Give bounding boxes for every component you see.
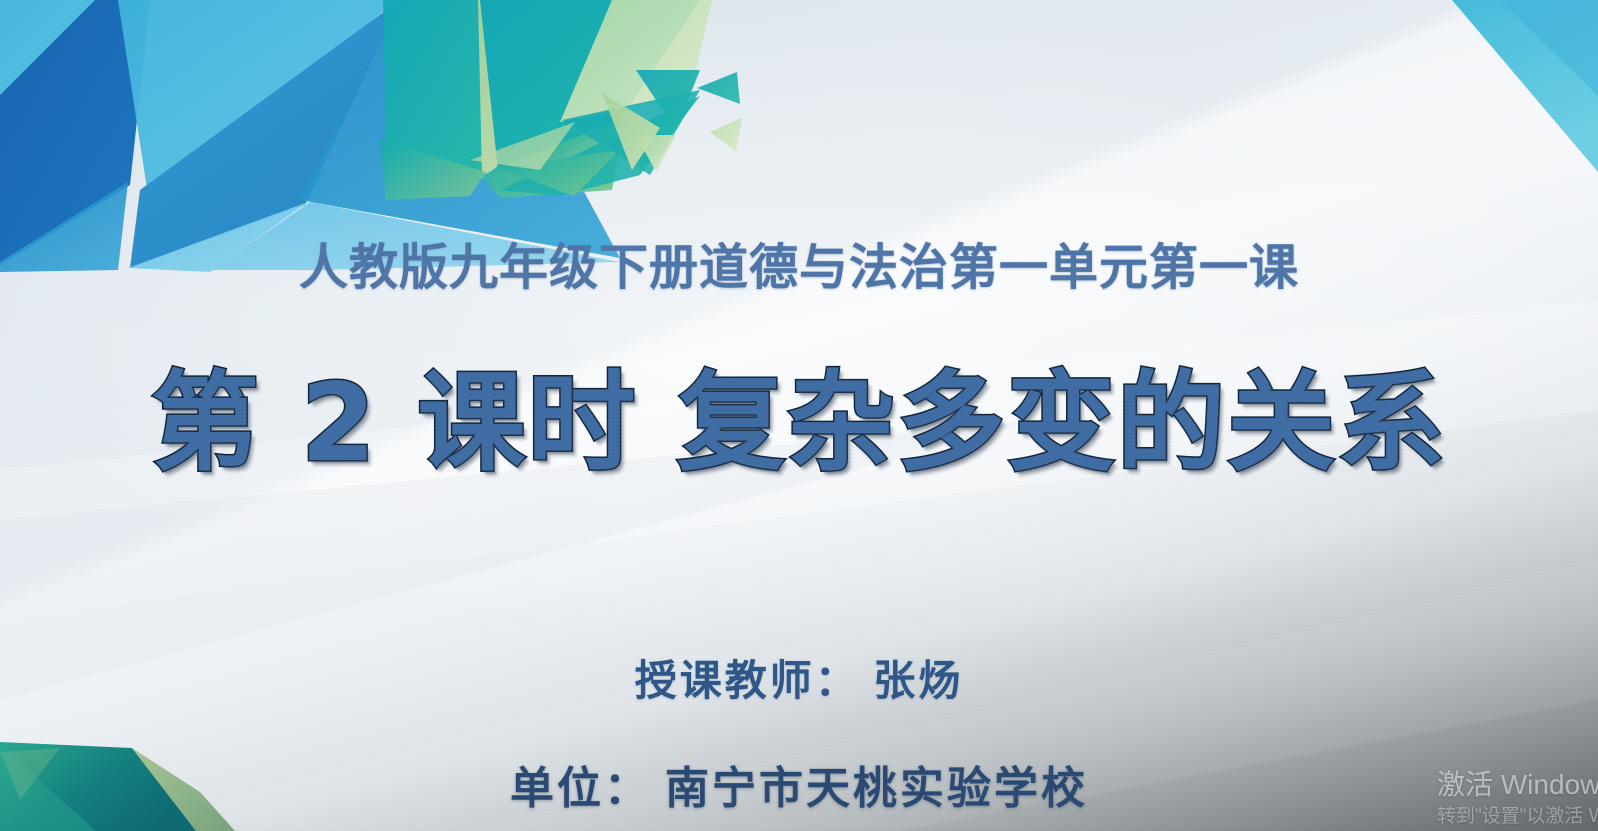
slide-subtitle: 人教版九年级下册道德与法治第一单元第一课 <box>0 228 1598 299</box>
school-credit-line: 单位： 南宁市天桃实验学校 <box>0 752 1598 816</box>
presentation-slide: 人教版九年级下册道德与法治第一单元第一课 第 2 课时 复杂多变的关系 授课教师… <box>0 0 1598 831</box>
slide-main-title: 第 2 课时 复杂多变的关系 <box>0 366 1598 483</box>
slide-text-stack: 人教版九年级下册道德与法治第一单元第一课 第 2 课时 复杂多变的关系 授课教师… <box>0 0 1598 831</box>
teacher-credit-line: 授课教师： 张炀 <box>0 647 1598 708</box>
